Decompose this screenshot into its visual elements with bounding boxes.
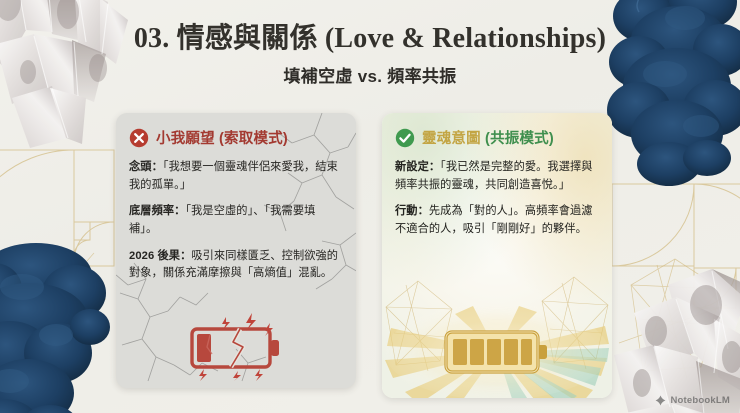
- page-subtitle: 填補空虛 vs. 頻率共振: [0, 62, 740, 87]
- gold-wireframe-gem-right: [617, 239, 732, 389]
- x-circle-icon: [129, 128, 149, 148]
- card-soul-content: 靈魂意圖 (共振模式) 新設定：「我已然是完整的愛。我選擇與頻率共振的靈魂，共同…: [382, 113, 612, 239]
- card-soul-header: 靈魂意圖 (共振模式): [395, 127, 599, 148]
- para-lead: 行動：: [395, 205, 429, 217]
- golden-fibonacci-spiral-right: [610, 182, 740, 310]
- full-golden-battery-icon: [382, 306, 612, 398]
- para-lead: 2026 後果：: [129, 250, 191, 262]
- page-title: 03. 情感與關係 (Love & Relationships): [0, 22, 740, 55]
- card-ego-art: [116, 306, 356, 384]
- gold-wireframe-gem-left: [0, 239, 114, 379]
- comparison-cards: 小我願望 (索取模式) 念頭：「我想要一個靈魂伴侶來愛我，結束我的孤單。」 底層…: [116, 113, 612, 403]
- card-ego-desire[interactable]: 小我願望 (索取模式) 念頭：「我想要一個靈魂伴侶來愛我，結束我的孤單。」 底層…: [116, 113, 356, 388]
- card-ego-content: 小我願望 (索取模式) 念頭：「我想要一個靈魂伴侶來愛我，結束我的孤單。」 底層…: [116, 113, 356, 283]
- para-lead: 底層頻率：: [129, 205, 185, 217]
- cracked-low-battery-icon: [176, 309, 296, 381]
- card-ego-title: 小我願望 (索取模式): [156, 127, 288, 148]
- quartz-crystal-bottom-right: [596, 257, 740, 413]
- card-soul-title-sub: (共振模式): [481, 131, 554, 147]
- navy-ink-cloud-bottom-left: [0, 223, 135, 413]
- card-soul-art: [382, 306, 612, 398]
- card-soul-title-main: 靈魂意圖: [422, 131, 481, 147]
- notebooklm-logo-icon: [655, 395, 666, 406]
- golden-fibonacci-spiral-left: [0, 148, 116, 268]
- slide-canvas: 03. 情感與關係 (Love & Relationships) 填補空虛 vs…: [0, 0, 740, 413]
- card-soul-paragraph-2: 行動：先成為「對的人」。高頻率會過濾不適合的人，吸引「剛剛好」的夥伴。: [395, 203, 599, 238]
- card-soul-intent[interactable]: 靈魂意圖 (共振模式) 新設定：「我已然是完整的愛。我選擇與頻率共振的靈魂，共同…: [382, 113, 612, 398]
- title-block: 03. 情感與關係 (Love & Relationships) 填補空虛 vs…: [0, 22, 740, 87]
- card-soul-paragraph-1: 新設定：「我已然是完整的愛。我選擇與頻率共振的靈魂，共同創造喜悅。」: [395, 159, 599, 194]
- card-soul-title: 靈魂意圖 (共振模式): [422, 127, 554, 148]
- check-circle-icon: [395, 128, 415, 148]
- card-ego-paragraph-2: 底層頻率：「我是空虛的」、「我需要填補」。: [129, 203, 343, 238]
- card-ego-paragraph-3: 2026 後果：吸引來同樣匱乏、控制欲強的對象，關係充滿摩擦與「高熵值」混亂。: [129, 248, 343, 283]
- card-ego-paragraph-1: 念頭：「我想要一個靈魂伴侶來愛我，結束我的孤單。」: [129, 159, 343, 194]
- notebooklm-watermark: NotebookLM: [655, 395, 730, 406]
- watermark-label: NotebookLM: [670, 395, 730, 406]
- para-lead: 念頭：: [129, 161, 163, 173]
- card-ego-header: 小我願望 (索取模式): [129, 127, 343, 148]
- para-lead: 新設定：: [395, 161, 440, 173]
